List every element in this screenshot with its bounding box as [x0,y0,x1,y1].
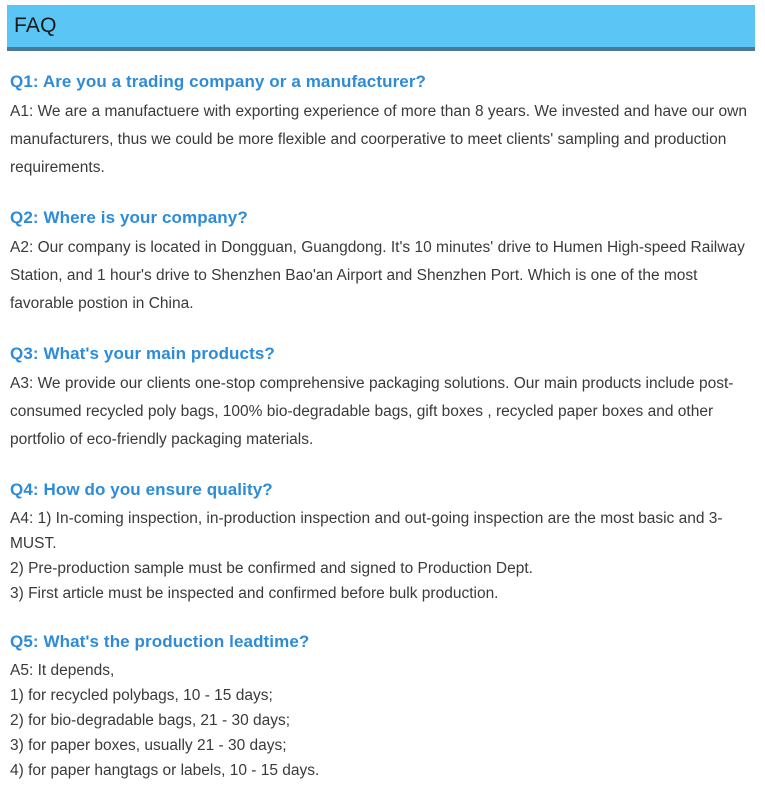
faq-answer: A3: We provide our clients one-stop comp… [10,370,751,454]
faq-content: Q1: Are you a trading company or a manuf… [0,55,765,792]
faq-question: Q2: Where is your company? [10,191,751,231]
faq-answer-line: 3) First article must be inspected and c… [10,581,751,606]
faq-item: Q3: What's your main products? A3: We pr… [0,327,765,454]
faq-item: Q4: How do you ensure quality? A4: 1) In… [0,463,765,606]
faq-answer-line: 1) for recycled polybags, 10 - 15 days; [10,683,751,708]
faq-question: Q5: What's the production leadtime? [10,615,751,655]
faq-answer-lines: A4: 1) In-coming inspection, in-producti… [10,506,751,606]
faq-item: Q1: Are you a trading company or a manuf… [0,55,765,182]
faq-item: Q2: Where is your company? A2: Our compa… [0,191,765,318]
faq-answer: A1: We are a manufactuere with exporting… [10,98,751,182]
faq-answer: A2: Our company is located in Dongguan, … [10,234,751,318]
faq-question: Q3: What's your main products? [10,327,751,367]
faq-item: Q5: What's the production leadtime? A5: … [0,615,765,783]
faq-answer-lines: A5: It depends, 1) for recycled polybags… [10,658,751,783]
faq-header-title: FAQ [14,13,57,39]
faq-answer-line: A5: It depends, [10,658,751,683]
faq-answer-line: 2) for bio-degradable bags, 21 - 30 days… [10,708,751,733]
faq-answer-line: 2) Pre-production sample must be confirm… [10,556,751,581]
faq-answer-line: 3) for paper boxes, usually 21 - 30 days… [10,733,751,758]
faq-answer-line: 4) for paper hangtags or labels, 10 - 15… [10,758,751,783]
faq-question: Q1: Are you a trading company or a manuf… [10,55,751,95]
faq-page: FAQ Q1: Are you a trading company or a m… [0,0,765,748]
faq-header-bar: FAQ [7,5,755,51]
faq-question: Q4: How do you ensure quality? [10,463,751,503]
faq-answer-line: A4: 1) In-coming inspection, in-producti… [10,506,751,556]
